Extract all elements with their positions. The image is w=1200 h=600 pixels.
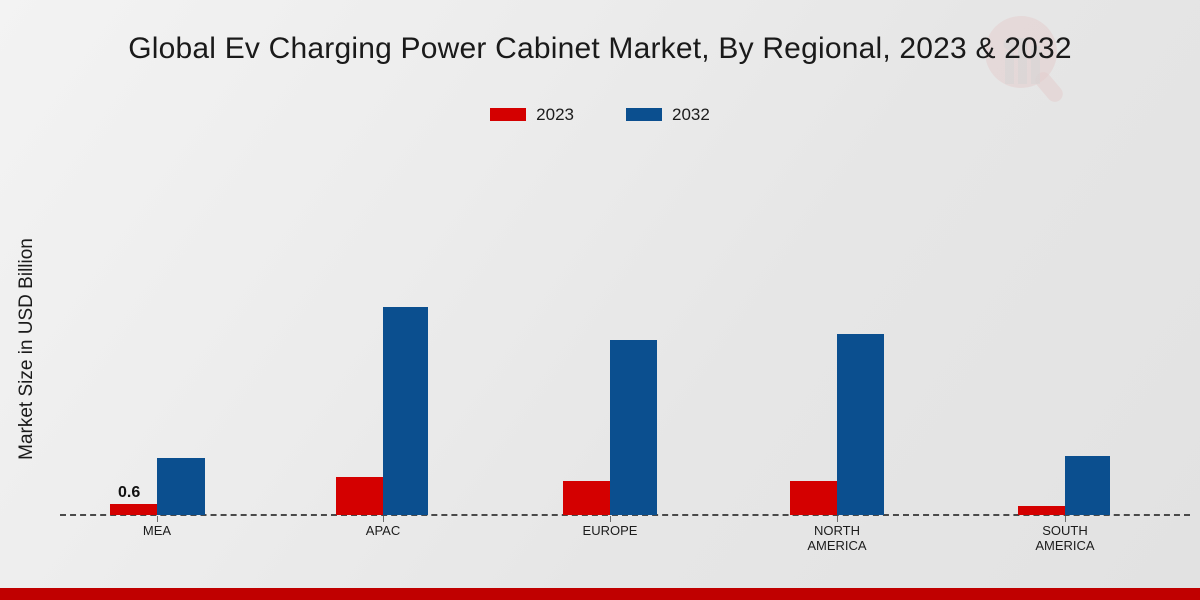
x-tick-apac: [383, 516, 384, 522]
bar-europe-2032[interactable]: [610, 340, 657, 515]
bar-mea-2032[interactable]: [157, 458, 205, 515]
legend-swatch-2023: [490, 108, 526, 121]
y-axis-title: Market Size in USD Billion: [16, 169, 38, 529]
x-tick-south-america: [1065, 516, 1066, 522]
bar-apac-2023[interactable]: [336, 477, 383, 515]
legend-item-2023[interactable]: 2023: [490, 106, 574, 123]
bar-group-mea: 0.6 MEA: [110, 151, 204, 516]
x-label-mea: MEA: [70, 523, 244, 538]
bar-north-america-2023[interactable]: [790, 481, 837, 515]
x-label-europe: EUROPE: [523, 523, 697, 538]
legend-label-2032: 2032: [672, 106, 710, 123]
x-label-apac: APAC: [296, 523, 470, 538]
bar-group-apac: APAC: [336, 151, 430, 516]
footer-accent-bar: [0, 588, 1200, 600]
bar-south-america-2032[interactable]: [1065, 456, 1110, 515]
chart-title: Global Ev Charging Power Cabinet Market,…: [0, 32, 1200, 66]
bar-group-north-america: NORTH AMERICA: [790, 151, 884, 516]
bar-mea-2023[interactable]: [110, 504, 157, 515]
bar-north-america-2032[interactable]: [837, 334, 884, 515]
x-tick-europe: [610, 516, 611, 522]
plot-area: 0.6 MEA APAC EUROPE NORTH AMERICA: [60, 150, 1190, 516]
bar-apac-2032[interactable]: [383, 307, 428, 515]
x-label-south-america: SOUTH AMERICA: [978, 523, 1152, 553]
x-tick-north-america: [837, 516, 838, 522]
chart-legend: 2023 2032: [0, 106, 1200, 123]
bar-group-europe: EUROPE: [563, 151, 657, 516]
legend-label-2023: 2023: [536, 106, 574, 123]
x-label-north-america: NORTH AMERICA: [750, 523, 924, 553]
bar-group-south-america: SOUTH AMERICA: [1018, 151, 1112, 516]
chart-container: Global Ev Charging Power Cabinet Market,…: [0, 0, 1200, 600]
bar-south-america-2023[interactable]: [1018, 506, 1066, 515]
x-tick-mea: [157, 516, 158, 522]
legend-item-2032[interactable]: 2032: [626, 106, 710, 123]
legend-swatch-2032: [626, 108, 662, 121]
bar-value-mea-2023: 0.6: [118, 484, 140, 502]
bar-europe-2023[interactable]: [563, 481, 610, 515]
